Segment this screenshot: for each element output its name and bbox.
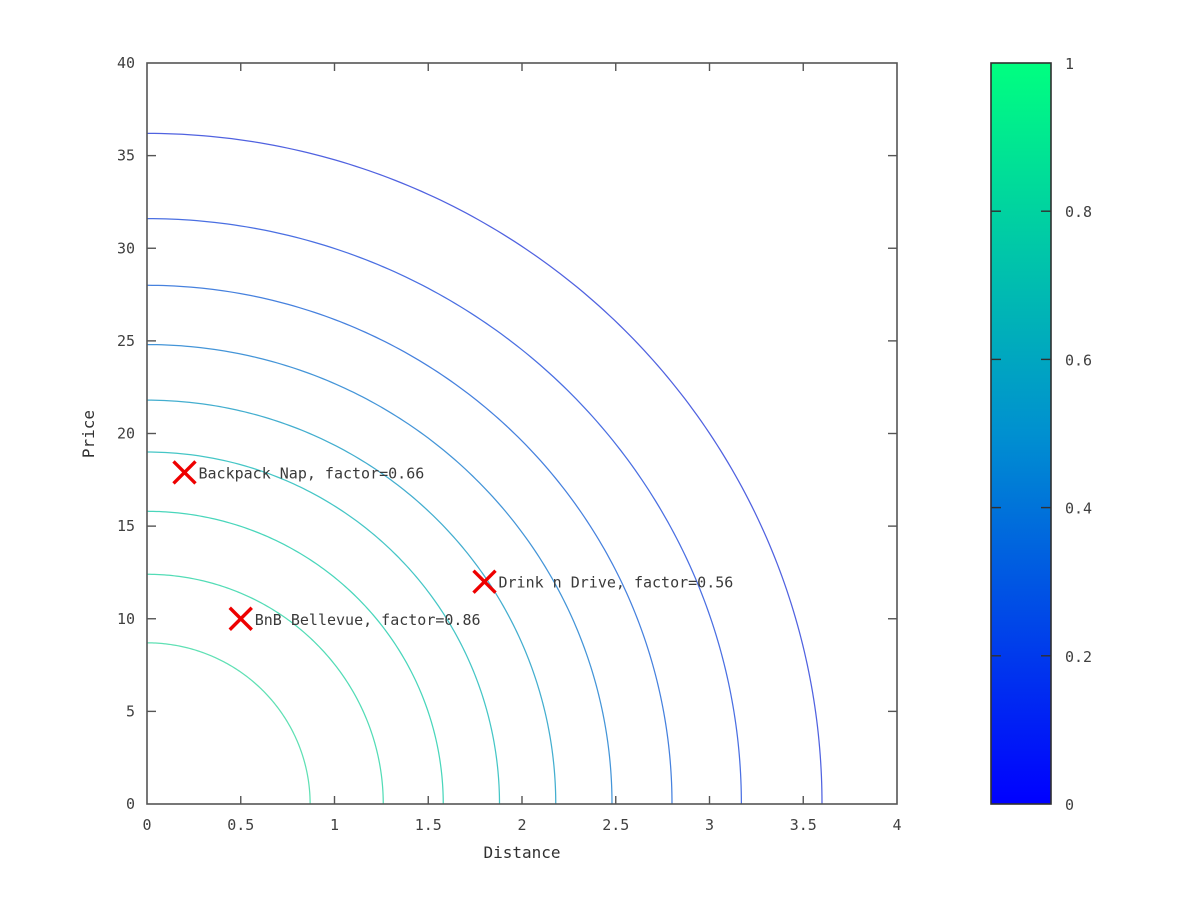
- y-tick-label: 25: [117, 332, 135, 350]
- y-tick-label: 5: [126, 702, 135, 720]
- marker-label: Backpack Nap, factor=0.66: [199, 464, 425, 482]
- y-tick-label: 40: [117, 54, 135, 72]
- x-axis-label: Distance: [483, 843, 560, 862]
- chart-canvas: 00.511.522.533.54 0510152025303540 Dista…: [0, 0, 1200, 900]
- marker-2[interactable]: BnB Bellevue, factor=0.86: [230, 608, 481, 630]
- x-tick-label: 3.5: [790, 816, 817, 834]
- y-axis-label: Price: [79, 410, 98, 458]
- x-tick-label: 2: [517, 816, 526, 834]
- colorbar-tick-label: 0.6: [1065, 351, 1092, 369]
- y-tick-label: 20: [117, 425, 135, 443]
- colorbar-tick-label: 0: [1065, 796, 1074, 814]
- colorbar: 10.80.60.40.20: [991, 55, 1092, 814]
- y-tick-label: 15: [117, 517, 135, 535]
- x-tick-label: 0: [142, 816, 151, 834]
- marker-label: BnB Bellevue, factor=0.86: [255, 611, 481, 629]
- x-tick-label: 1: [330, 816, 339, 834]
- y-tick-label: 30: [117, 239, 135, 257]
- marker-label: Drink n Drive, factor=0.56: [499, 574, 734, 592]
- y-tick-label: 0: [126, 795, 135, 813]
- colorbar-tick-label: 0.2: [1065, 648, 1092, 666]
- plot-background: [147, 63, 897, 804]
- colorbar-tick-label: 0.4: [1065, 500, 1092, 518]
- colorbar-tick-label: 1: [1065, 55, 1074, 73]
- x-tick-label: 3: [705, 816, 714, 834]
- contour-plot-svg: 00.511.522.533.54 0510152025303540 Dista…: [0, 0, 1200, 900]
- x-tick-label: 1.5: [415, 816, 442, 834]
- x-tick-label: 4: [892, 816, 901, 834]
- x-tick-label: 2.5: [602, 816, 629, 834]
- colorbar-gradient: [991, 63, 1051, 804]
- marker-0[interactable]: Backpack Nap, factor=0.66: [174, 461, 425, 483]
- x-tick-label: 0.5: [227, 816, 254, 834]
- colorbar-tick-label: 0.8: [1065, 203, 1092, 221]
- y-tick-label: 10: [117, 610, 135, 628]
- y-tick-label: 35: [117, 147, 135, 165]
- marker-1[interactable]: Drink n Drive, factor=0.56: [474, 571, 734, 593]
